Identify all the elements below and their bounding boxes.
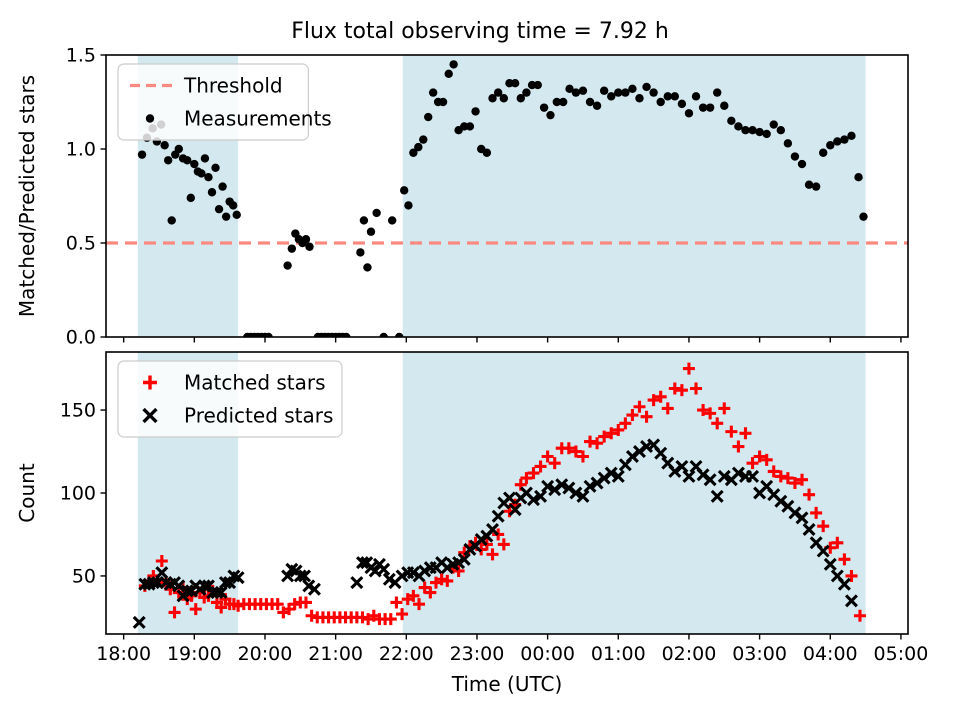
data-point [471,107,479,115]
data-point [164,156,172,164]
x-tick-label: 22:00 [379,643,434,665]
y-tick-label: 50 [72,565,96,587]
data-point [671,92,679,100]
x-tick-label: 19:00 [167,643,222,665]
x-tick-label: 01:00 [591,643,646,665]
data-point [770,120,778,128]
data-point [586,98,594,106]
y-tick-label: 0.0 [66,327,96,349]
data-point [222,212,230,220]
data-point [762,130,770,138]
data-point [483,149,491,157]
data-point [656,98,664,106]
x-tick-label: 18:00 [96,643,151,665]
data-point [360,216,368,224]
y-tick-label: 150 [60,400,96,422]
x-tick-label: 05:00 [874,643,929,665]
data-point [160,141,168,149]
data-point [215,205,223,213]
data-point [204,173,212,181]
data-point [197,169,205,177]
data-point [439,98,447,106]
y-axis-title: Matched/Predicted stars [15,75,39,317]
data-point [621,88,629,96]
data-point [511,79,519,87]
data-point [706,103,714,111]
x-tick-label: 04:00 [803,643,858,665]
y-tick-label: 100 [60,483,96,505]
data-point [727,117,735,125]
x-tick-label: 03:00 [732,643,787,665]
data-point [805,181,813,189]
data-point [168,216,176,224]
data-point [593,102,601,110]
x-tick-label: 23:00 [450,643,505,665]
data-point [798,160,806,168]
data-point [372,209,380,217]
data-point [183,156,191,164]
data-point [854,173,862,181]
legend-label: Predicted stars [184,404,333,428]
data-point [187,194,195,202]
data-point [208,188,216,196]
data-point [833,137,841,145]
data-point [424,113,432,121]
legend-marker-measurements [146,114,154,122]
data-point [847,132,855,140]
page-title: Flux total observing time = 7.92 h [291,19,669,44]
data-point [190,160,198,168]
data-point [201,154,209,162]
data-point [812,182,820,190]
data-point [572,88,580,96]
data-point [642,83,650,91]
data-point [685,109,693,117]
data-point [138,150,146,158]
data-point [840,135,848,143]
data-point [600,87,608,95]
data-point [579,87,587,95]
data-point [404,201,412,209]
data-point [607,92,615,100]
data-point [233,211,241,219]
data-point [388,216,396,224]
data-point [678,100,686,108]
data-point [367,228,375,236]
y-tick-label: 1.0 [66,139,96,161]
data-point [419,135,427,143]
data-point [305,243,313,251]
matplotlib-figure: Flux total observing time = 7.92 h 0.00.… [0,0,960,720]
x-axis-title: Time (UTC) [451,672,563,696]
data-point [356,248,364,256]
data-point [546,111,554,119]
data-point [826,141,834,149]
data-point [628,85,636,93]
x-tick-label: 02:00 [662,643,717,665]
data-point [534,81,542,89]
data-point [819,149,827,157]
x-tick-label: 20:00 [238,643,293,665]
data-point [302,235,310,243]
data-point [466,122,474,130]
data-point [500,94,508,102]
data-point [692,92,700,100]
legend: ThresholdMeasurements [118,64,332,140]
data-point [540,103,548,111]
legend-label: Matched stars [184,371,326,395]
data-point [283,261,291,269]
data-point [429,88,437,96]
data-point [859,212,867,220]
data-point [734,122,742,130]
data-point [748,126,756,134]
legend: Matched starsPredicted stars [118,361,342,437]
legend-label: Measurements [184,107,332,131]
legend-label: Threshold [183,74,283,98]
data-point [211,164,219,172]
data-point [288,244,296,252]
observing-block-2 [403,55,866,337]
data-point [713,88,721,96]
data-point [791,152,799,160]
data-point [414,143,422,151]
data-point [559,98,567,106]
data-point [445,70,453,78]
data-point [777,126,785,134]
x-tick-label: 00:00 [520,643,575,665]
data-point [229,201,237,209]
ratio-panel: 0.00.51.01.5Matched/Predicted starsThres… [15,45,908,349]
data-point [363,263,371,271]
data-point [175,145,183,153]
y-tick-label: 0.5 [66,233,96,255]
y-tick-label: 1.5 [66,45,96,67]
data-point [649,88,657,96]
figure-container: Flux total observing time = 7.92 h 0.00.… [0,0,960,720]
data-point [720,102,728,110]
data-point [755,128,763,136]
data-point [522,88,530,96]
data-point [218,182,226,190]
x-tick-label: 21:00 [308,643,363,665]
data-point [400,186,408,194]
y-axis-title: Count [15,463,39,523]
data-point [784,139,792,147]
data-point [635,94,643,102]
observing-block-2 [403,352,866,634]
data-point [449,60,457,68]
